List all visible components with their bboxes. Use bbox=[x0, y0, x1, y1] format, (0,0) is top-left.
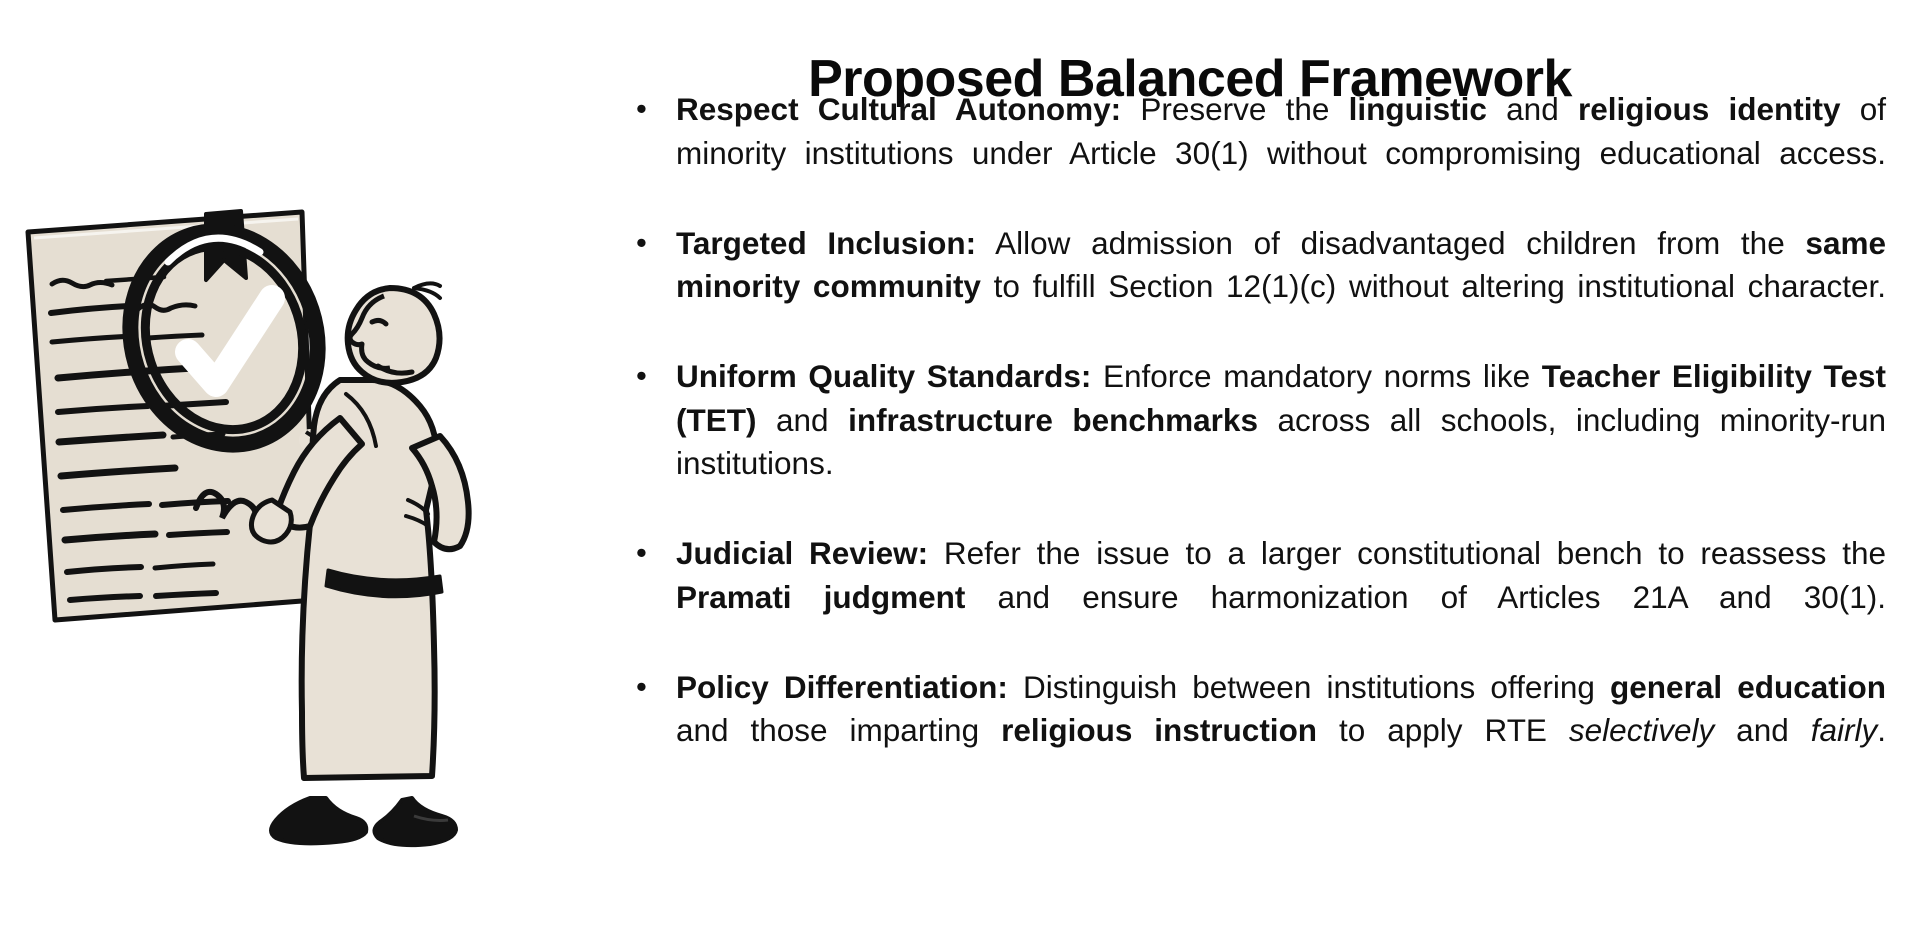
bullet-lead-policy-differentiation: Policy Differentiation: bbox=[676, 669, 1008, 705]
bullet-segment-respect-cultural-autonomy-1: linguistic bbox=[1349, 91, 1487, 127]
bullet-segment-uniform-quality-standards-2: and bbox=[756, 402, 848, 438]
bullet-segment-policy-differentiation-3: religious instruction bbox=[1001, 712, 1317, 748]
illustration-person-inspecting-document bbox=[10, 180, 610, 880]
framework-bullet-list: Respect Cultural Autonomy: Preserve the … bbox=[628, 88, 1886, 799]
bullet-segment-uniform-quality-standards-0: Enforce mandatory norms like bbox=[1091, 358, 1541, 394]
bullet-segment-judicial-review-1: Pramati judgment bbox=[676, 579, 965, 615]
bullet-text-4: Policy Differentiation: Distinguish betw… bbox=[676, 666, 1886, 797]
bullet-segment-policy-differentiation-7: fairly bbox=[1811, 712, 1878, 748]
bullet-segment-uniform-quality-standards-3: infrastructure benchmarks bbox=[848, 402, 1258, 438]
bullet-text-0: Respect Cultural Autonomy: Preserve the … bbox=[676, 88, 1886, 219]
bullet-segment-targeted-inclusion-0: Allow admission of disadvantaged childre… bbox=[976, 225, 1805, 261]
bullet-segment-policy-differentiation-8: . bbox=[1877, 712, 1886, 748]
bullet-lead-judicial-review: Judicial Review: bbox=[676, 535, 928, 571]
bullet-segment-policy-differentiation-0: Distinguish between institutions offerin… bbox=[1008, 669, 1610, 705]
bullet-segment-judicial-review-2: and ensure harmonization of Articles 21A… bbox=[965, 579, 1886, 615]
bullet-judicial-review: Judicial Review: Refer the issue to a la… bbox=[628, 532, 1886, 663]
bullet-lead-targeted-inclusion: Targeted Inclusion: bbox=[676, 225, 976, 261]
bullet-segment-policy-differentiation-4: to apply RTE bbox=[1317, 712, 1569, 748]
bullet-respect-cultural-autonomy: Respect Cultural Autonomy: Preserve the … bbox=[628, 88, 1886, 219]
slide-canvas: Proposed Balanced Framework bbox=[0, 0, 1913, 935]
bullet-segment-respect-cultural-autonomy-0: Preserve the bbox=[1121, 91, 1349, 127]
bullet-segment-targeted-inclusion-2: to fulfill Section 12(1)(c) without alte… bbox=[981, 268, 1886, 304]
bullet-segment-policy-differentiation-1: general education bbox=[1610, 669, 1886, 705]
bullet-text-2: Uniform Quality Standards: Enforce manda… bbox=[676, 355, 1886, 529]
bullet-text-3: Judicial Review: Refer the issue to a la… bbox=[676, 532, 1886, 663]
bullet-policy-differentiation: Policy Differentiation: Distinguish betw… bbox=[628, 666, 1886, 797]
bullet-segment-policy-differentiation-5: selectively bbox=[1569, 712, 1714, 748]
bullet-segment-judicial-review-0: Refer the issue to a larger constitution… bbox=[928, 535, 1886, 571]
bullet-lead-respect-cultural-autonomy: Respect Cultural Autonomy: bbox=[676, 91, 1121, 127]
bullet-lead-uniform-quality-standards: Uniform Quality Standards: bbox=[676, 358, 1091, 394]
bullet-segment-respect-cultural-autonomy-2: and bbox=[1487, 91, 1578, 127]
bullet-segment-respect-cultural-autonomy-3: religious identity bbox=[1578, 91, 1841, 127]
person-shoes bbox=[271, 798, 456, 845]
bullet-segment-policy-differentiation-2: and those imparting bbox=[676, 712, 1001, 748]
bullet-text-1: Targeted Inclusion: Allow admission of d… bbox=[676, 222, 1886, 353]
bullet-segment-policy-differentiation-6: and bbox=[1714, 712, 1810, 748]
bullet-list: Respect Cultural Autonomy: Preserve the … bbox=[628, 88, 1886, 796]
bullet-targeted-inclusion: Targeted Inclusion: Allow admission of d… bbox=[628, 222, 1886, 353]
bullet-uniform-quality-standards: Uniform Quality Standards: Enforce manda… bbox=[628, 355, 1886, 529]
